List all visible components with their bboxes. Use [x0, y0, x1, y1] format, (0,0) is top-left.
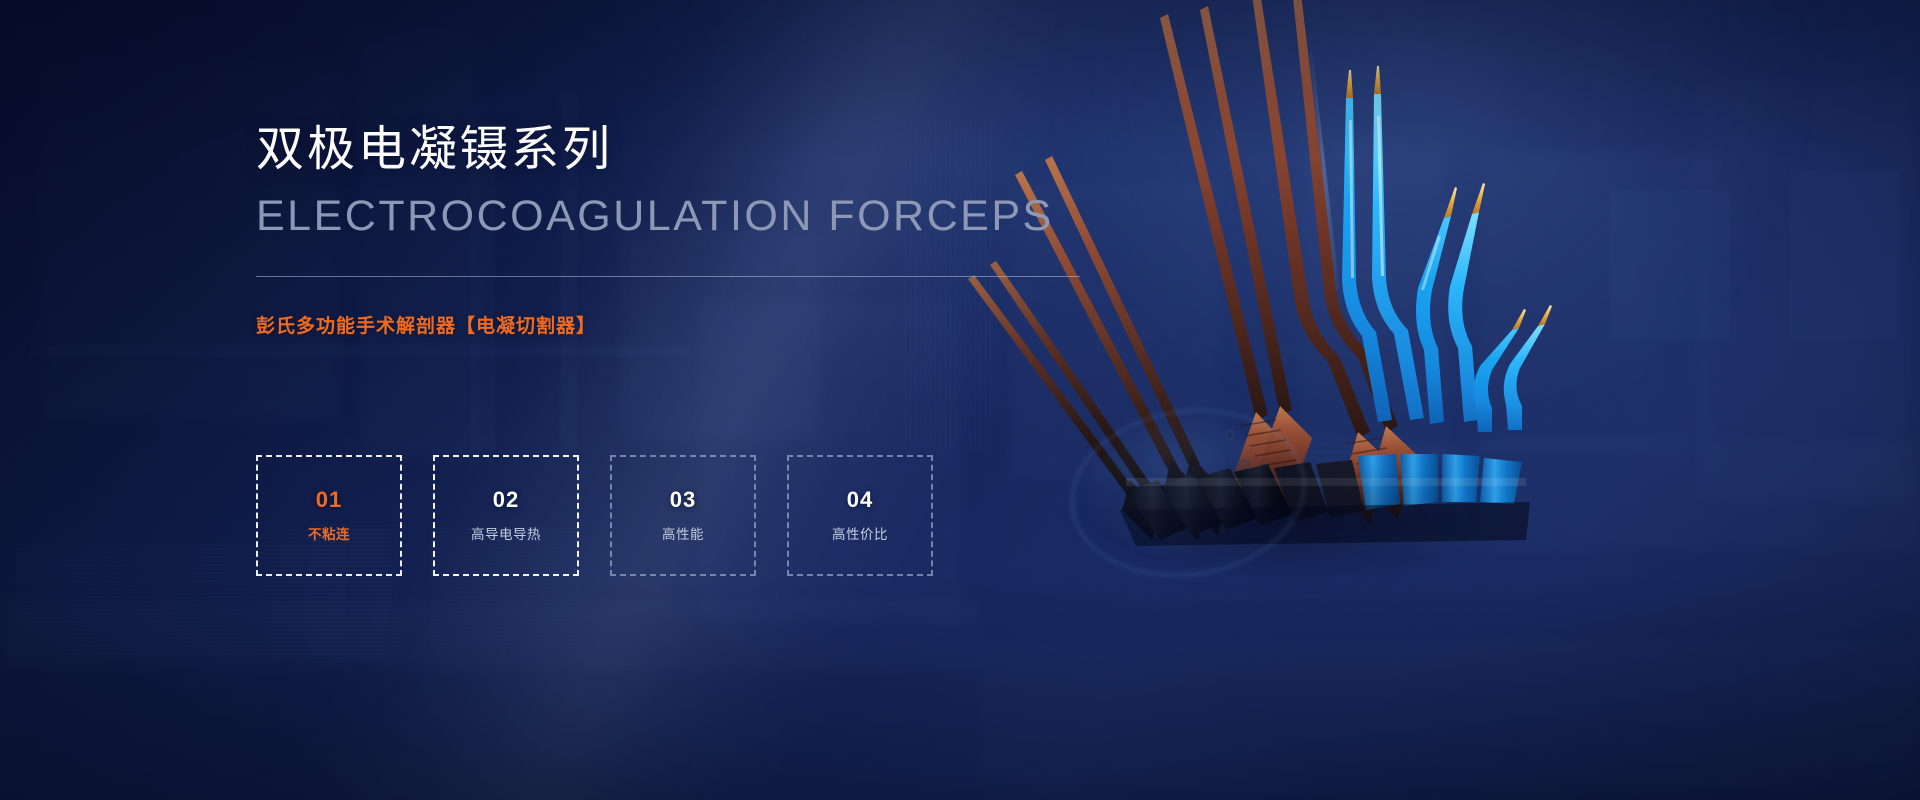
feature-item-04[interactable]: 04 高性价比 — [787, 455, 933, 576]
banner-text-block: 双极电凝镊系列 ELECTROCOAGULATION FORCEPS 彭氏多功能… — [256, 120, 1156, 338]
forceps-blue-1 — [1342, 66, 1424, 422]
product-hero-banner: 双极电凝镊系列 ELECTROCOAGULATION FORCEPS 彭氏多功能… — [0, 0, 1920, 800]
title-divider — [256, 276, 1080, 277]
feature-label: 高导电导热 — [471, 528, 541, 542]
feature-item-01[interactable]: 01 不粘连 — [256, 455, 402, 576]
page-subtitle: 彭氏多功能手术解剖器【电凝切割器】 — [256, 311, 1156, 338]
feature-number: 03 — [670, 489, 696, 511]
feature-number: 04 — [847, 489, 873, 511]
feature-item-02[interactable]: 02 高导电导热 — [433, 455, 579, 576]
page-title: 双极电凝镊系列 — [256, 120, 1156, 180]
feature-number: 02 — [493, 489, 519, 511]
feature-number: 01 — [316, 489, 342, 511]
feature-item-03[interactable]: 03 高性能 — [610, 455, 756, 576]
feature-label: 不粘连 — [308, 528, 350, 542]
feature-list: 01 不粘连 02 高导电导热 03 高性能 04 高性价比 — [256, 455, 933, 576]
feature-label: 高性价比 — [832, 528, 888, 542]
page-title-english: ELECTROCOAGULATION FORCEPS — [256, 190, 1156, 242]
feature-label: 高性能 — [662, 528, 704, 542]
